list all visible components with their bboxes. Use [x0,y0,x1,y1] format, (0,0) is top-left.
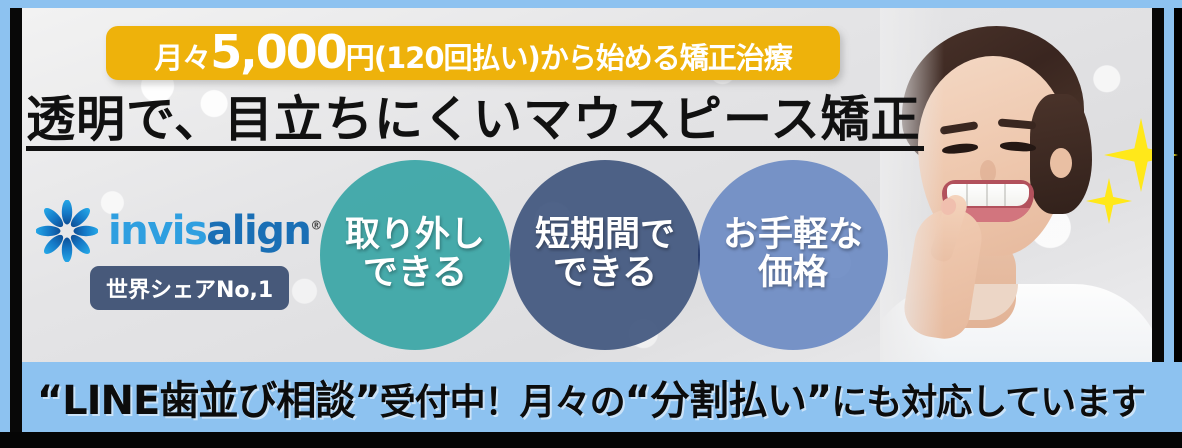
headline-underline [26,146,924,151]
frame-bottom [0,432,1182,448]
invisalign-burst-icon [36,200,98,262]
dental-promo-banner: 月々5,000円(120回払い)から始める矯正治療 透明で、目立ちにくいマウスピ… [0,0,1182,448]
price-badge: 月々5,000円(120回払い)から始める矯正治療 [106,26,840,80]
frame-inner-left [10,8,22,362]
cta-part-3: “分割払い” [625,378,832,424]
logo-word-dark: align [206,208,310,254]
frame-inner-right [1152,8,1164,362]
invisalign-logo: invisalign® [36,200,321,262]
feature-line-2: できる [363,255,467,293]
price-prefix: 月々 [154,35,210,77]
price-badge-text: 月々5,000円(120回払い)から始める矯正治療 [154,29,792,77]
feature-line-1: お手軽な [723,217,863,255]
invisalign-wordmark: invisalign® [108,211,321,251]
feature-circle-removable: 取り外し できる [320,160,510,350]
logo-word-light: invis [108,208,206,254]
model-photo [880,8,1152,362]
feature-line-1: 短期間で [535,217,675,255]
tooth-gap [1004,184,1006,206]
feature-line-2: できる [553,255,657,293]
price-amount: 5,000 [210,29,346,75]
frame-bar-left-stub [10,362,22,432]
invisalign-brand-block: invisalign® 世界シェアNo,1 [36,200,316,308]
feature-circle-short-term: 短期間で できる [510,160,700,350]
registered-mark: ® [310,219,321,233]
feature-circle-affordable: お手軽な 価格 [698,160,888,350]
cta-bar-text: “LINE歯並び相談”受付中！月々の“分割払い”にも対応しています [37,368,1145,426]
headline-text: 透明で、目立ちにくいマウスピース矯正 [26,95,921,144]
cta-part-1: “LINE歯並び相談” [37,378,380,424]
page-title: 透明で、目立ちにくいマウスピース矯正 [26,88,926,150]
status-badge: 世界シェアNo,1 [90,266,289,310]
cta-bar[interactable]: “LINE歯並び相談”受付中！月々の“分割払い”にも対応しています [0,362,1182,432]
feature-line-2: 価格 [758,255,828,293]
cta-part-2: 受付中！月々の [380,382,625,423]
frame-top [0,0,1182,8]
share-badge-label: 世界シェアNo,1 [106,278,273,303]
ear [1050,148,1072,178]
feature-line-1: 取り外し [345,217,485,255]
price-suffix: 円(120回払い)から始める矯正治療 [346,35,792,77]
feature-circles: 取り外し できる 短期間で できる お手軽な 価格 [320,160,900,350]
cta-part-4: にも対応しています [831,382,1145,423]
tooth-gap [986,184,988,206]
